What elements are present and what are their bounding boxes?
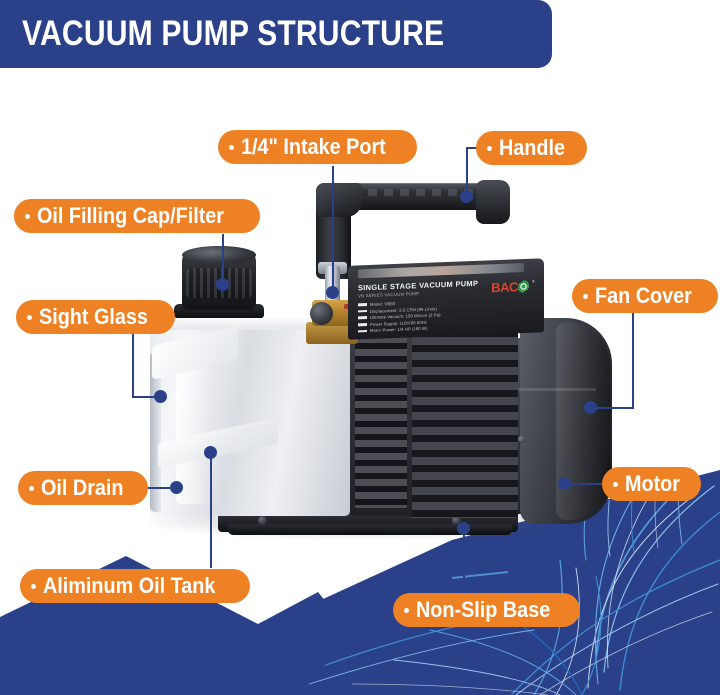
- nameplate-spec-list: Model: VB50 Displacement: 3.5 CFM (99 L/…: [358, 299, 441, 335]
- callout-sight-glass[interactable]: Sight Glass: [16, 300, 175, 334]
- leader-dot-fan-cover: [584, 401, 597, 414]
- bullet-icon: [27, 315, 32, 320]
- spec-row: Motor Power: 1/4 HP (180 W): [358, 326, 441, 334]
- bullet-icon: [613, 482, 618, 487]
- oil-cap-top: [182, 246, 256, 264]
- callout-label: Motor: [625, 473, 680, 495]
- pump-nameplate: SINGLE STAGE VACUUM PUMP VB SERIES VACUU…: [348, 258, 544, 340]
- gear-icon: [516, 279, 531, 295]
- callout-aliminum-oil-tank[interactable]: Aliminum Oil Tank: [20, 569, 250, 603]
- bullet-icon: [487, 146, 492, 151]
- callout-label: Oil Drain: [41, 477, 124, 499]
- callout-label: Handle: [499, 137, 565, 159]
- leader-line-fan-cover-v: [632, 312, 634, 408]
- leader-line-oil-cap: [222, 234, 224, 284]
- leader-dot-handle: [460, 190, 473, 203]
- registered-mark: ®: [532, 279, 535, 284]
- leader-dot-motor: [558, 477, 571, 490]
- brand-wordmark: BAC: [491, 279, 518, 295]
- callout-label: Sight Glass: [39, 306, 148, 328]
- leader-dot-oil-cap: [216, 278, 229, 291]
- callout-oil-drain[interactable]: Oil Drain: [18, 471, 148, 505]
- base-mount-hole-left: [258, 516, 267, 525]
- leader-line-sight-glass-v: [132, 334, 134, 396]
- leader-line-intake-port: [332, 166, 334, 288]
- callout-label: Non-Slip Base: [416, 599, 550, 621]
- callout-label: Aliminum Oil Tank: [43, 575, 215, 597]
- intake-valve-knob: [310, 302, 333, 325]
- spec-bullet-icon: [358, 310, 367, 313]
- leader-dot-intake-port: [326, 286, 339, 299]
- bullet-icon: [404, 608, 409, 613]
- spec-text: Motor Power: 1/4 HP (180 W): [370, 326, 428, 333]
- brand-logo: BAC ®: [491, 279, 535, 296]
- callout-handle[interactable]: Handle: [476, 131, 587, 165]
- handle-elbow: [316, 183, 362, 217]
- leader-dot-sight-glass: [154, 390, 167, 403]
- bullet-icon: [29, 486, 34, 491]
- callout-label: Oil Filling Cap/Filter: [37, 205, 224, 227]
- leader-line-non-slip-base: [463, 528, 465, 590]
- callout-fan-cover[interactable]: Fan Cover: [572, 279, 718, 313]
- callout-label: Fan Cover: [595, 285, 692, 307]
- leader-dot-oil-drain: [170, 481, 183, 494]
- oil-tank-highlight: [176, 352, 210, 504]
- leader-line-oil-tank: [210, 452, 212, 568]
- spec-bullet-icon: [358, 316, 367, 319]
- bullet-icon: [31, 584, 36, 589]
- fan-cover-rim: [556, 322, 610, 520]
- cooling-fins-rear: [410, 322, 518, 518]
- callout-motor[interactable]: Motor: [602, 467, 701, 501]
- motor-seam: [508, 388, 596, 391]
- nameplate-subtitle: VB SERIES VACUUM PUMP: [358, 291, 419, 298]
- cooling-fins-front: [350, 330, 412, 516]
- callout-oil-filling-cap[interactable]: Oil Filling Cap/Filter: [14, 199, 260, 233]
- spec-bullet-icon: [358, 330, 367, 333]
- leader-line-fan-cover-h: [592, 407, 634, 409]
- infographic-page: SINGLE STAGE VACUUM PUMP VB SERIES VACUU…: [0, 0, 720, 695]
- nameplate-strip: [358, 263, 524, 278]
- bullet-icon: [25, 214, 30, 219]
- spec-bullet-icon: [358, 303, 367, 306]
- callout-non-slip-base[interactable]: Non-Slip Base: [393, 593, 580, 627]
- leader-dot-oil-tank: [204, 446, 217, 459]
- callout-intake-port[interactable]: 1/4" Intake Port: [218, 130, 417, 164]
- leader-dot-non-slip-base: [457, 522, 470, 535]
- handle-right-cap: [476, 180, 510, 224]
- bullet-icon: [583, 294, 588, 299]
- bullet-icon: [229, 145, 234, 150]
- spec-text: Model: VB50: [370, 301, 395, 307]
- callout-label: 1/4" Intake Port: [241, 136, 386, 158]
- motor-screw: [518, 436, 525, 443]
- spec-bullet-icon: [358, 323, 367, 326]
